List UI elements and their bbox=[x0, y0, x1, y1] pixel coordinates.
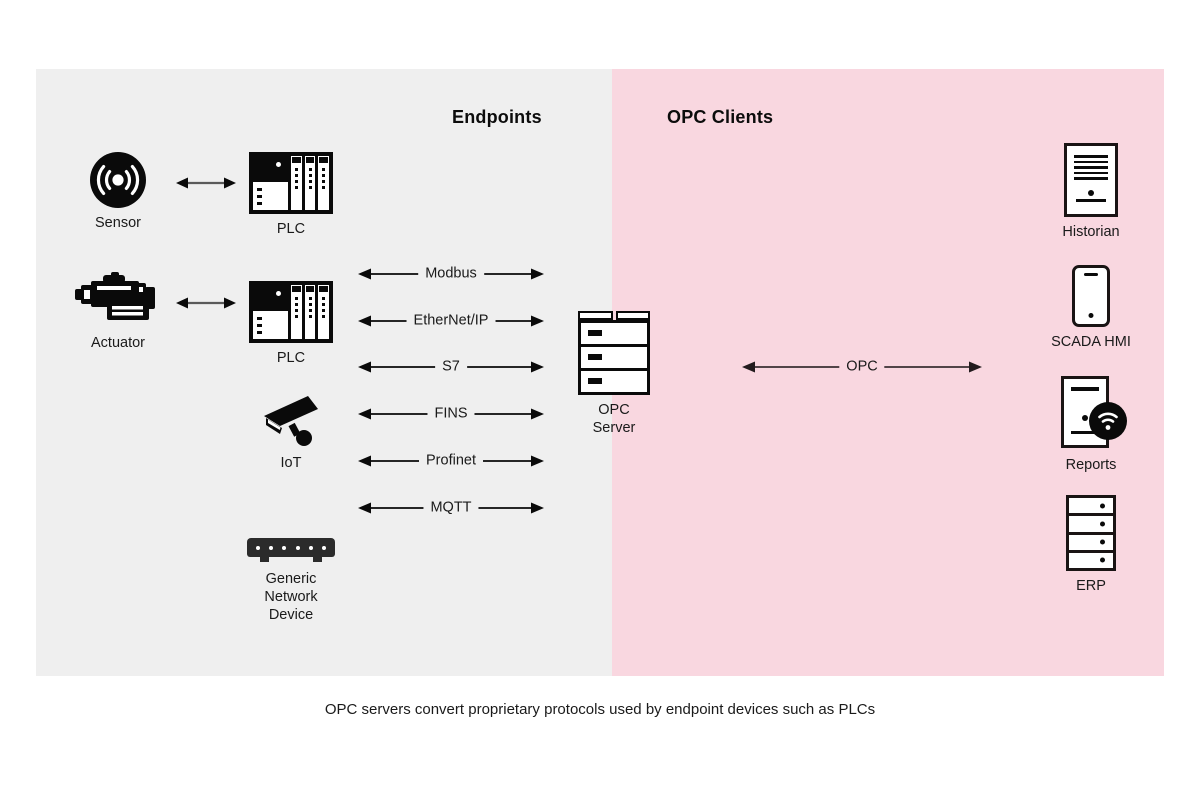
node-label: PLC bbox=[249, 349, 333, 367]
node-label: PLC bbox=[249, 220, 333, 238]
node-actuator[interactable]: Actuator bbox=[62, 272, 174, 352]
actuator-motor-icon bbox=[73, 272, 163, 328]
mobile-device-icon bbox=[1072, 265, 1110, 327]
diagram-canvas: Endpoints OPC Clients Sensor bbox=[0, 0, 1200, 793]
sensor-wireless-icon bbox=[90, 152, 146, 208]
protocol-link-mqtt: MQTT bbox=[358, 500, 544, 516]
server-stack-icon bbox=[1066, 495, 1116, 571]
plc-rack-icon bbox=[249, 152, 333, 214]
node-label: ERP bbox=[1036, 577, 1146, 595]
diagram-caption: OPC servers convert proprietary protocol… bbox=[0, 701, 1200, 718]
node-erp[interactable]: ERP bbox=[1036, 495, 1146, 595]
node-plc-bottom[interactable]: PLC bbox=[249, 281, 333, 367]
server-rack-icon bbox=[576, 311, 652, 395]
endpoints-panel-title: Endpoints bbox=[452, 107, 542, 128]
protocol-link-modbus: Modbus bbox=[358, 266, 544, 282]
protocol-label: Profinet bbox=[419, 454, 483, 469]
protocol-label: EtherNet/IP bbox=[407, 314, 496, 329]
node-label: IoT bbox=[260, 454, 322, 472]
node-label: Reports bbox=[1036, 456, 1146, 474]
protocol-link-profinet: Profinet bbox=[358, 453, 544, 469]
node-sensor[interactable]: Sensor bbox=[62, 152, 174, 232]
opc-clients-panel-title: OPC Clients bbox=[667, 107, 773, 128]
protocol-label: S7 bbox=[435, 360, 467, 375]
protocol-label: Modbus bbox=[418, 267, 484, 282]
node-iot[interactable]: IoT bbox=[260, 392, 322, 472]
node-opc-server[interactable]: OPC Server bbox=[575, 311, 653, 437]
protocol-label: FINS bbox=[427, 407, 474, 422]
node-generic-network-device[interactable]: Generic Network Device bbox=[247, 538, 335, 624]
node-label: SCADA HMI bbox=[1036, 333, 1146, 351]
node-plc-top[interactable]: PLC bbox=[249, 152, 333, 238]
opc-link: OPC bbox=[742, 359, 982, 375]
protocol-link-s7: S7 bbox=[358, 359, 544, 375]
network-switch-icon bbox=[247, 538, 335, 564]
node-label: Sensor bbox=[62, 214, 174, 232]
node-reports[interactable]: Reports bbox=[1036, 376, 1146, 474]
protocol-link-fins: FINS bbox=[358, 406, 544, 422]
node-label: OPC Server bbox=[575, 401, 653, 437]
node-scada-hmi[interactable]: SCADA HMI bbox=[1036, 265, 1146, 351]
plc-rack-icon bbox=[249, 281, 333, 343]
opc-link-label: OPC bbox=[839, 360, 884, 375]
ip-camera-icon bbox=[260, 392, 322, 448]
protocol-label: MQTT bbox=[423, 501, 478, 516]
node-label: Generic Network Device bbox=[247, 570, 335, 624]
node-historian[interactable]: Historian bbox=[1036, 143, 1146, 241]
protocol-link-ethernet-ip: EtherNet/IP bbox=[358, 313, 544, 329]
node-label: Actuator bbox=[62, 334, 174, 352]
node-label: Historian bbox=[1036, 223, 1146, 241]
link-sensor-plc bbox=[176, 176, 236, 190]
link-actuator-plc bbox=[176, 296, 236, 310]
tower-wifi-icon bbox=[1055, 376, 1127, 450]
database-tower-icon bbox=[1064, 143, 1118, 217]
